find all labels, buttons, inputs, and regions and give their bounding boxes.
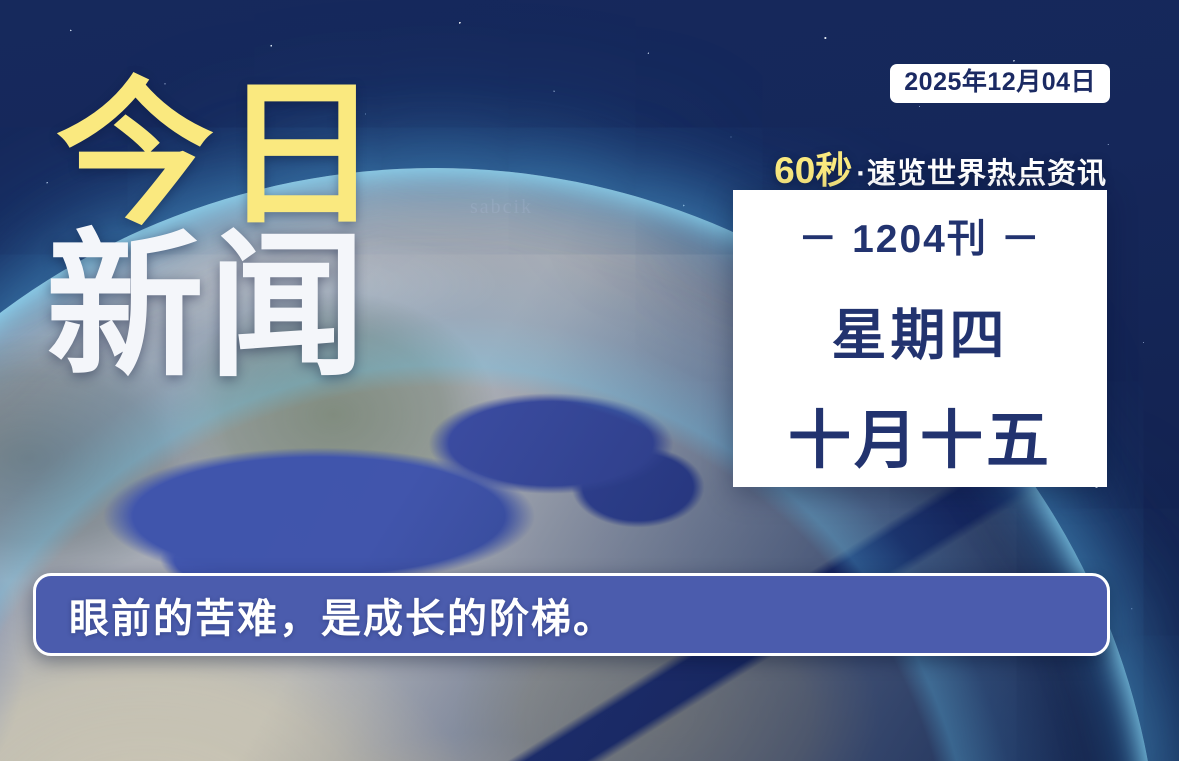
tagline-seconds: 60秒 [774, 150, 852, 191]
tagline: 60秒·速览世界热点资讯 [774, 140, 1107, 194]
issue-info-card: － 1204刊 － 星期四 十月十五 [733, 190, 1107, 487]
headline-line-today: 今日 [56, 88, 388, 224]
lunar-date-label: 十月十五 [788, 390, 1052, 481]
date-badge: 2025年12月04日 [890, 64, 1110, 103]
quote-text: 眼前的苦难，是成长的阶梯。 [69, 586, 615, 644]
issue-number: － 1204刊 － [798, 208, 1041, 264]
weekday-label: 星期四 [831, 290, 1008, 370]
news-poster: sabcik 2025年12月04日 今日 新闻 60秒·速览世界热点资讯 － … [0, 0, 1179, 761]
quote-bar: 眼前的苦难，是成长的阶梯。 [33, 573, 1110, 656]
headline-line-news: 新闻 [46, 240, 388, 376]
page-title: 今日 新闻 [56, 88, 388, 376]
tagline-description: ·速览世界热点资讯 [856, 158, 1107, 190]
watermark-text: sabcik [470, 196, 533, 219]
